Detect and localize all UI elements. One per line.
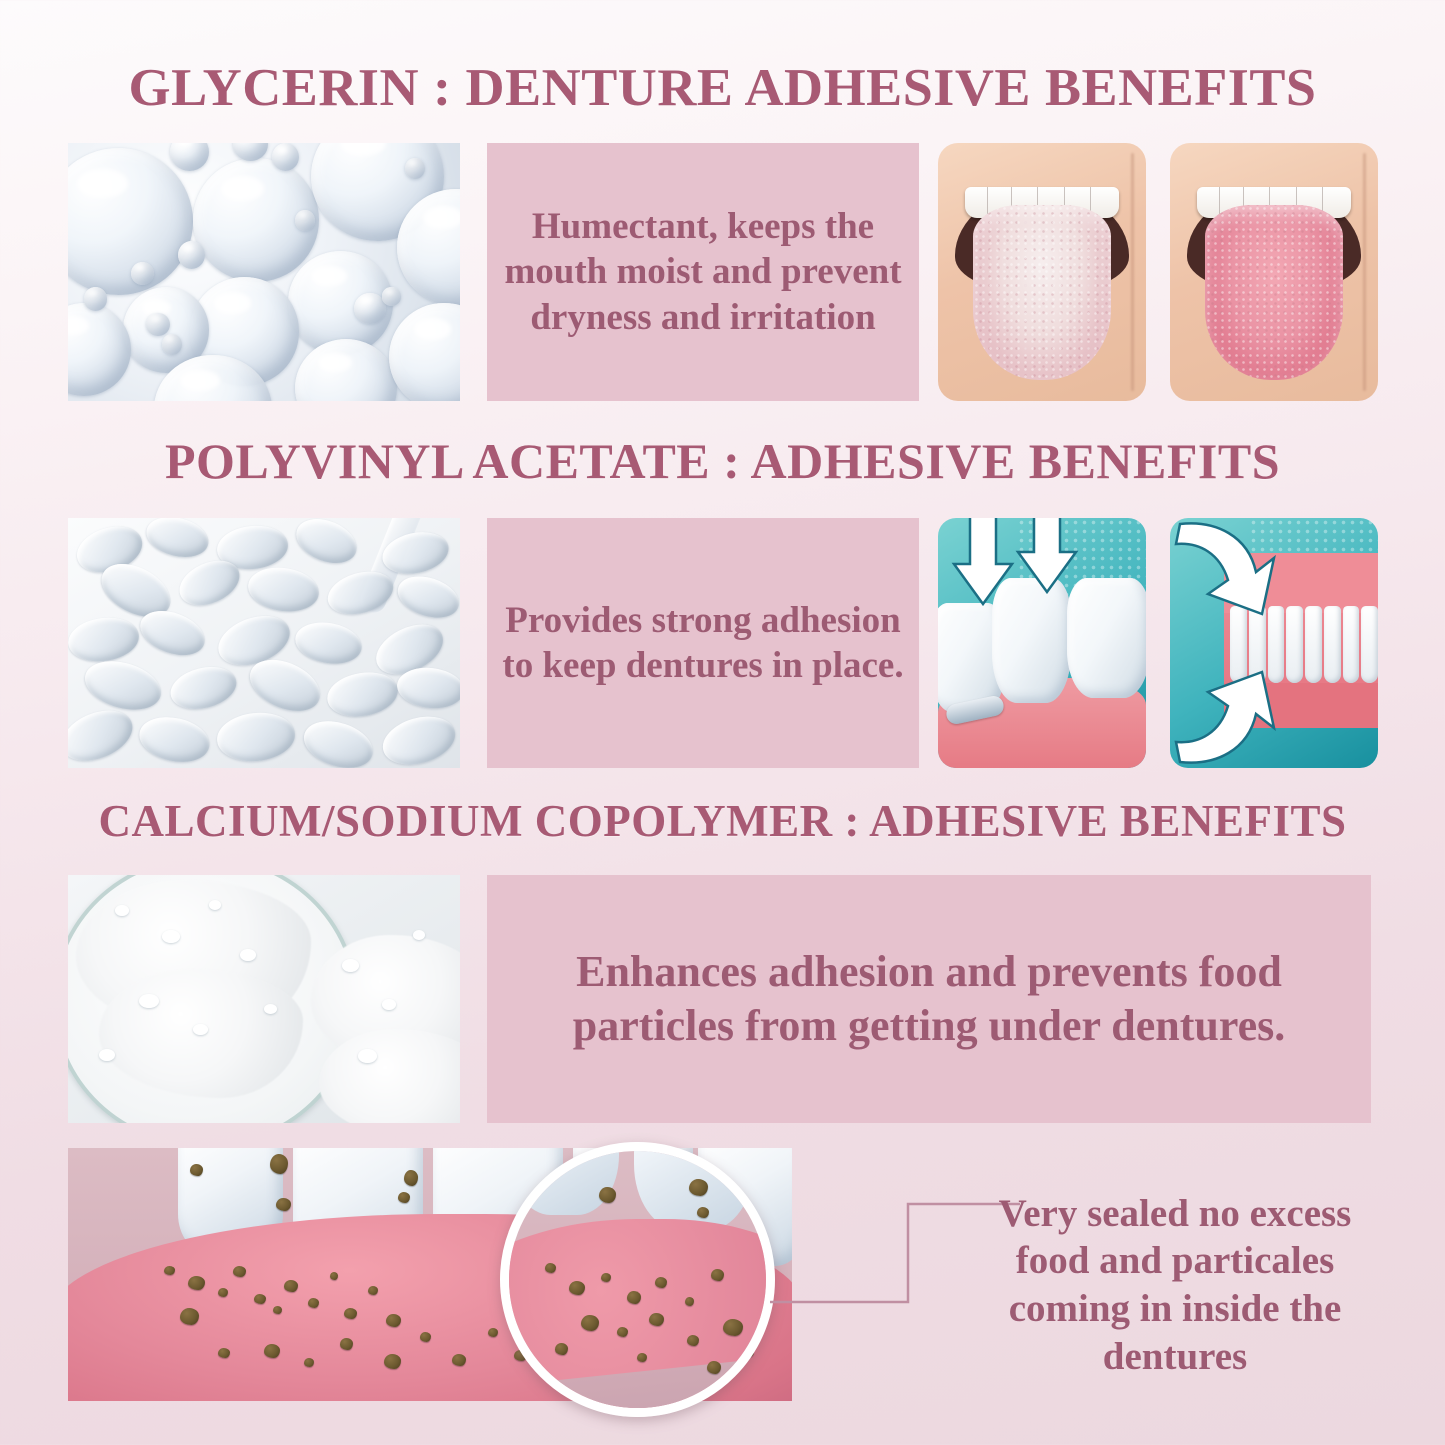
downward-arrows-icon (938, 518, 1146, 768)
healthy-pink-tongue-image (1170, 143, 1378, 401)
dry-coated-tongue-image (938, 143, 1146, 401)
section-heading-glycerin: GLYCERIN : DENTURE ADHESIVE BENEFITS (0, 58, 1445, 118)
converging-arrows-icon (1170, 518, 1378, 768)
polyvinyl-acetate-pellets-image (68, 518, 460, 768)
glycerin-bubbles-image (68, 143, 460, 401)
teeth-adhesive-arrows-illustration (938, 518, 1146, 768)
section-heading-polyvinyl-acetate: POLYVINYL ACETATE : ADHESIVE BENEFITS (0, 432, 1445, 490)
polyvinyl-acetate-benefit-textbox: Provides strong adhesion to keep denture… (487, 518, 919, 768)
denture-seal-arrows-illustration (1170, 518, 1378, 768)
section-heading-calcium-sodium-copolymer: CALCIUM/SODIUM COPOLYMER : ADHESIVE BENE… (0, 795, 1445, 847)
calcium-sodium-copolymer-powder-image (68, 875, 460, 1123)
magnified-gum-detail (500, 1142, 775, 1417)
calcium-sodium-copolymer-benefit-textbox: Enhances adhesion and prevents food part… (487, 875, 1371, 1123)
cheek-crease (1131, 153, 1134, 390)
cheek-crease (1363, 153, 1366, 390)
callout-textbox: Very sealed no excess food and particale… (975, 1160, 1375, 1410)
tongue-surface (1205, 205, 1342, 380)
glycerin-benefit-textbox: Humectant, keeps the mouth moist and pre… (487, 143, 919, 401)
tongue-surface (973, 205, 1110, 380)
